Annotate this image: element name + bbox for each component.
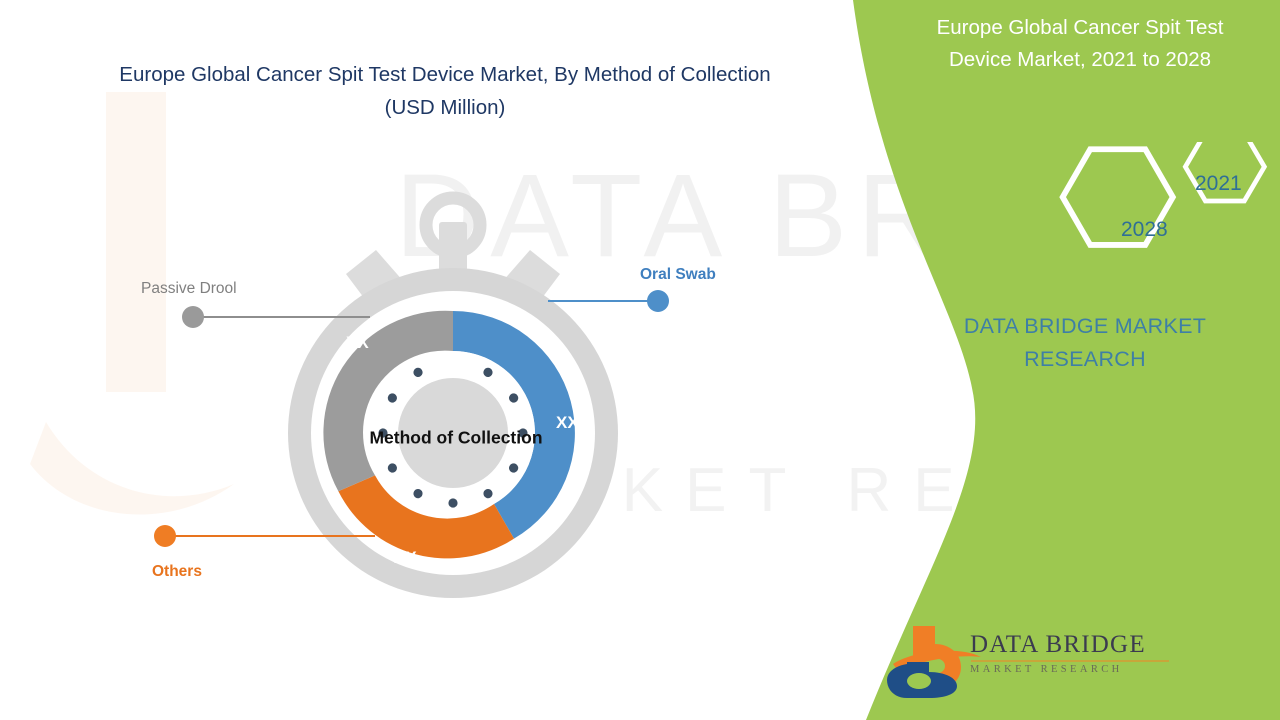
leader-line-oral-swab (548, 300, 648, 302)
logo-wordmark: DATA BRIDGE MARKET RESEARCH (970, 632, 1200, 675)
hexagon-label-2028: 2028 (1121, 218, 1168, 242)
green-panel-content: Europe Global Cancer Spit Test Device Ma… (880, 0, 1280, 720)
chart-title: Europe Global Cancer Spit Test Device Ma… (40, 58, 850, 124)
segment-value-oral-swab: XX (556, 413, 579, 432)
leader-line-passive-drool (198, 316, 370, 318)
chart-title-line-2: (USD Million) (40, 91, 850, 124)
segment-value-passive-drool: XX (346, 333, 369, 352)
logo-main-text: DATA BRIDGE (970, 632, 1200, 658)
callout-dot-passive-drool (182, 306, 204, 328)
callout-label-others: Others (152, 563, 202, 581)
callout-dot-oral-swab (647, 290, 669, 312)
green-panel-title-line-2: Device Market, 2021 to 2028 (890, 44, 1270, 76)
logo-divider (971, 660, 1169, 662)
donut-center-label: Method of Collection (369, 428, 542, 448)
brand-name: DATA BRIDGE MARKET RESEARCH (910, 310, 1260, 376)
leader-line-others (175, 535, 375, 537)
chart-title-line-1: Europe Global Cancer Spit Test Device Ma… (40, 58, 850, 91)
green-panel-title-line-1: Europe Global Cancer Spit Test (890, 12, 1270, 44)
callout-dot-others (154, 525, 176, 547)
brand-name-line-1: DATA BRIDGE MARKET (910, 310, 1260, 343)
hexagon-label-2021: 2021 (1195, 172, 1242, 196)
stopwatch-stem (439, 222, 467, 274)
segment-value-others: XX (394, 548, 417, 567)
callout-label-passive-drool: Passive Drool (141, 280, 237, 298)
watermark-logo-mark (28, 92, 238, 562)
hexagon-outlines (980, 142, 1270, 272)
infographic-canvas: DATA BRIDGE MARKET RESEARCH Europe Globa… (0, 0, 1280, 720)
green-panel-title: Europe Global Cancer Spit Test Device Ma… (890, 12, 1270, 76)
logo-sub-text: MARKET RESEARCH (970, 664, 1200, 675)
donut-chart-stopwatch: Method of Collection XX XX XX (258, 178, 648, 618)
callout-label-oral-swab: Oral Swab (640, 266, 716, 284)
brand-name-line-2: RESEARCH (910, 343, 1260, 376)
logo-blue-d-counter (907, 673, 931, 689)
hexagon-year-badges: 2021 2028 (980, 142, 1270, 272)
